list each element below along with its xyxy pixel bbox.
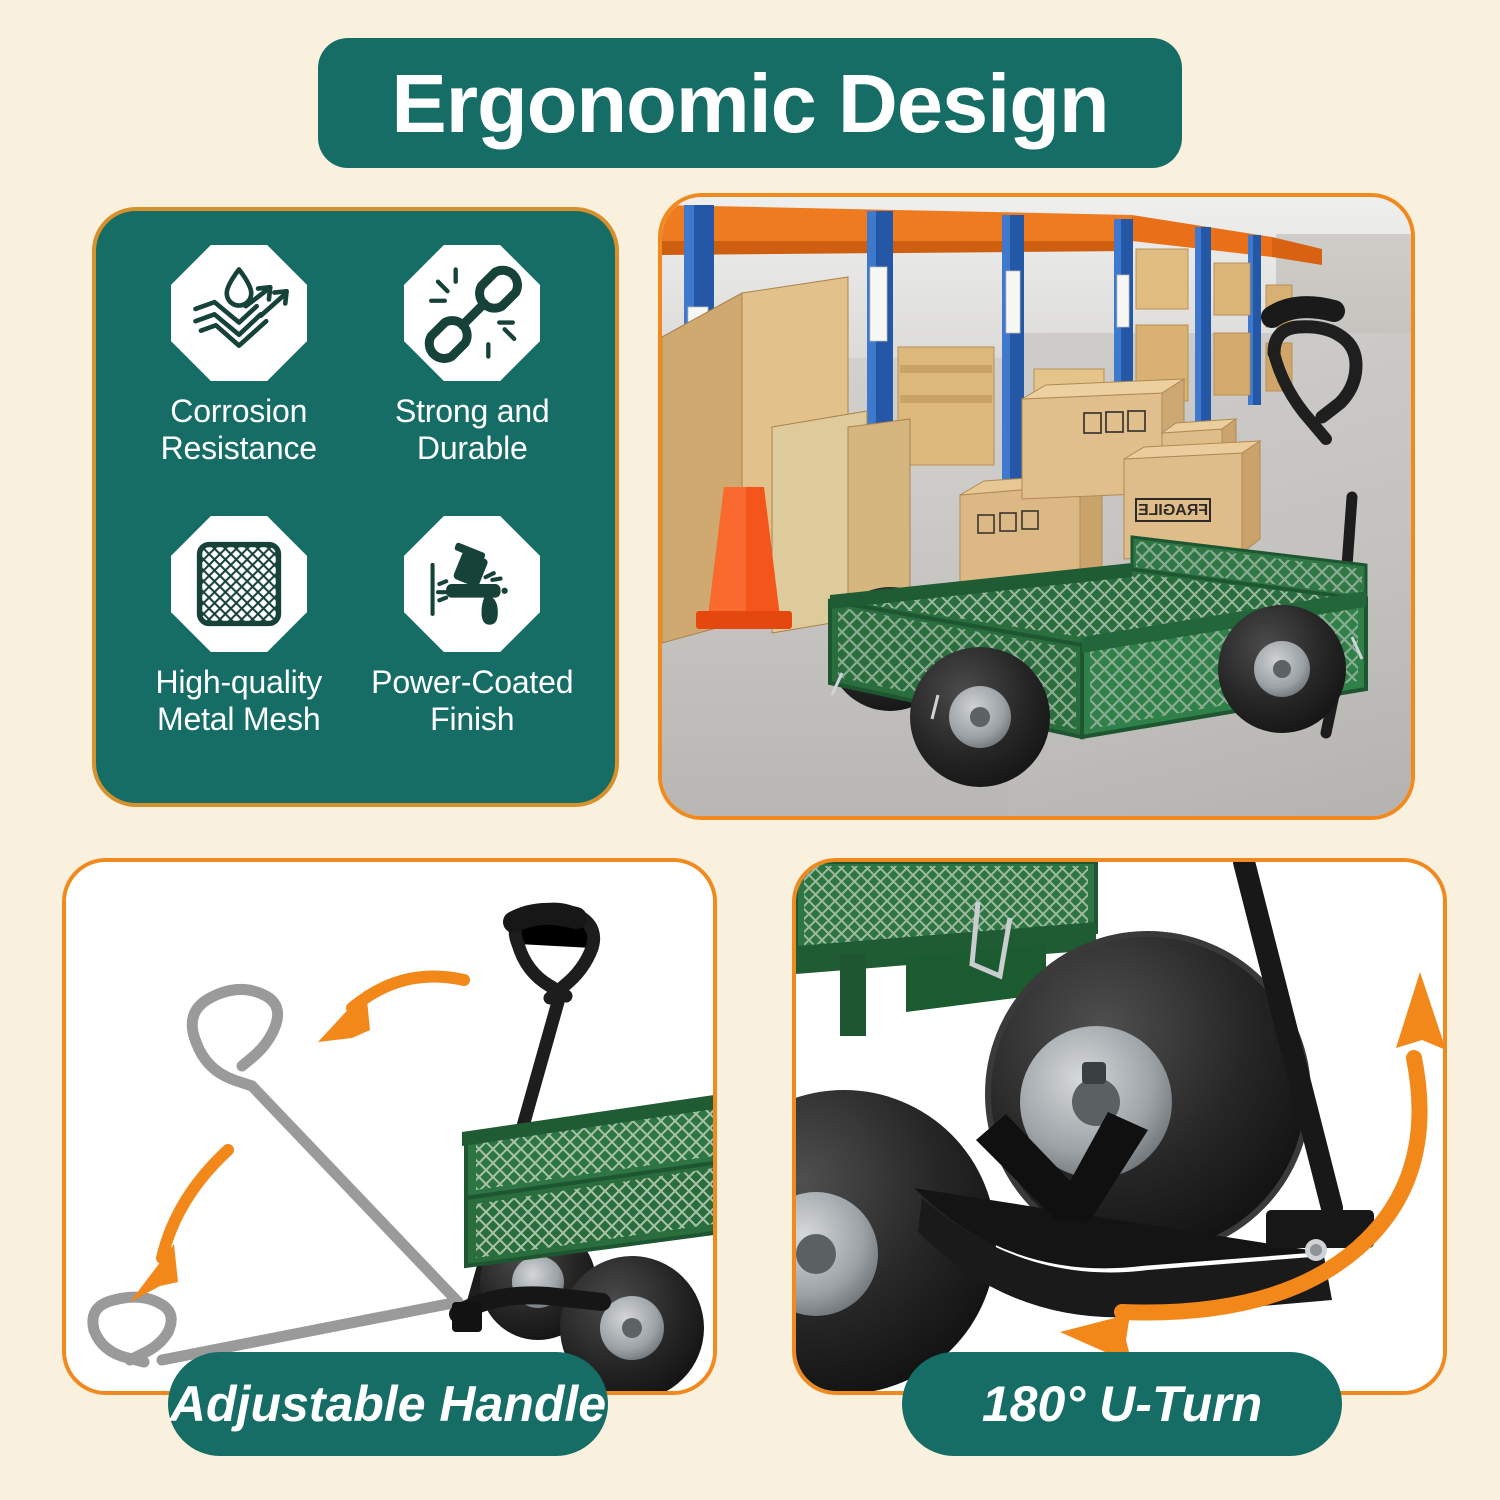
handle-ghost-upper-shaft (252, 1086, 458, 1302)
features-card: Corrosion Resistance (92, 207, 619, 807)
adjustable-handle-label-text: Adjustable Handle (170, 1375, 606, 1433)
rotation-arrow-upper-head (318, 990, 370, 1042)
handle-diagram (66, 862, 717, 1395)
page-title-banner: Ergonomic Design (318, 38, 1182, 168)
page-title: Ergonomic Design (391, 62, 1108, 145)
garden-cart (662, 197, 1415, 820)
handle-ghost-lower (93, 1297, 171, 1362)
handle-ghost-upper (192, 989, 277, 1086)
infographic-page: Ergonomic Design (0, 0, 1500, 1500)
feature-label-coating: Power-Coated Finish (371, 664, 573, 738)
feature-label-corrosion: Corrosion Resistance (161, 393, 317, 467)
u-turn-label: 180° U-Turn (902, 1352, 1342, 1456)
adjustable-handle-label: Adjustable Handle (168, 1352, 608, 1456)
feature-label-strong: Strong and Durable (395, 393, 550, 467)
cart-wheel-front-right (1218, 605, 1346, 733)
uturn-diagram (796, 862, 1447, 1395)
rotation-arrow-lower-head (130, 1244, 178, 1302)
uturn-arrow-head-up (1396, 972, 1446, 1050)
feature-metal-mesh: High-quality Metal Mesh (122, 516, 356, 779)
u-turn-label-text: 180° U-Turn (982, 1375, 1262, 1433)
warehouse-scene: FRAGILE (662, 197, 1411, 816)
uturn-wheel-main (988, 934, 1308, 1254)
feature-label-mesh: High-quality Metal Mesh (155, 664, 322, 738)
uturn-scene (796, 862, 1443, 1391)
warehouse-cart-photo: FRAGILE (658, 193, 1415, 820)
cart-partial (452, 1094, 717, 1395)
rotation-arrow-lower (162, 1150, 228, 1258)
feature-corrosion-resistance: Corrosion Resistance (122, 245, 356, 508)
rotation-arrow-upper (352, 977, 464, 1009)
feature-strong-durable: Strong and Durable (356, 245, 590, 508)
handle-scene (66, 862, 713, 1391)
u-turn-photo (792, 858, 1447, 1395)
metal-mesh-icon (171, 516, 307, 652)
spray-gun-icon (404, 516, 540, 652)
features-grid: Corrosion Resistance (122, 245, 589, 779)
water-repellent-icon (171, 245, 307, 381)
chain-link-icon (404, 245, 540, 381)
adjustable-handle-photo (62, 858, 717, 1395)
feature-power-coated: Power-Coated Finish (356, 516, 590, 779)
